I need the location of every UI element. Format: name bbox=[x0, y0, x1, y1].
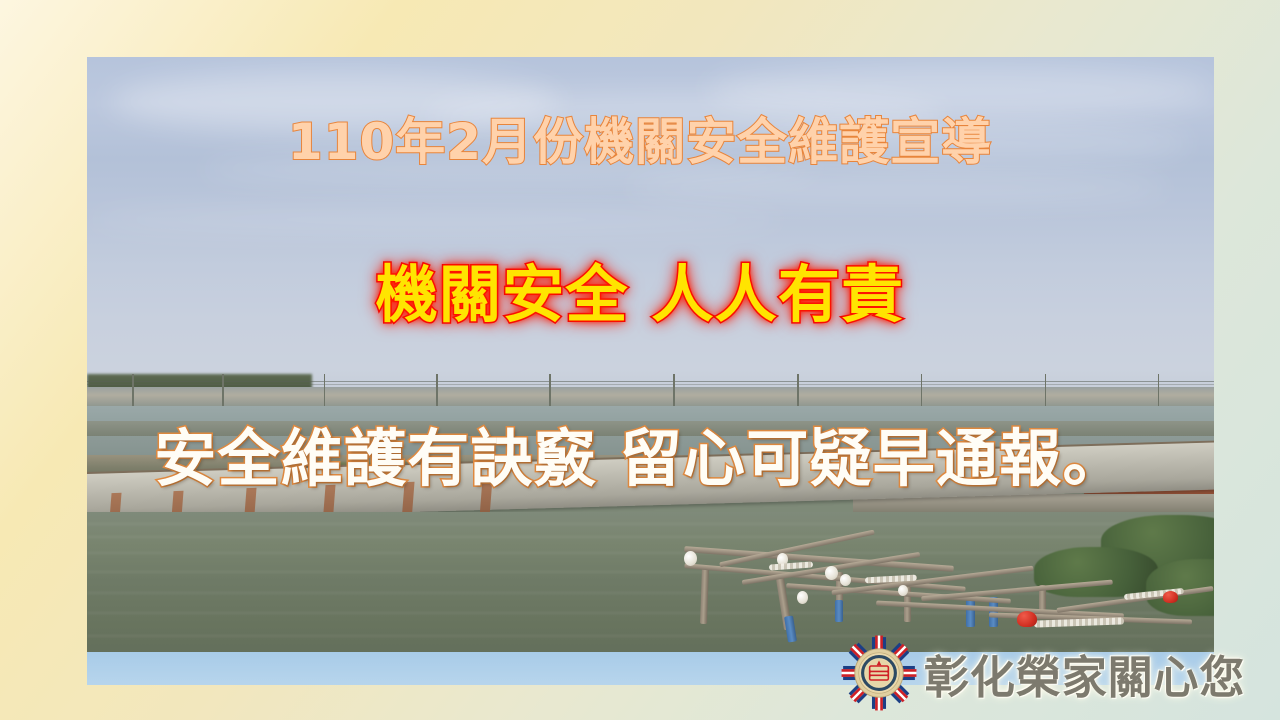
utility-pole bbox=[1158, 374, 1160, 405]
far-pond bbox=[87, 406, 1214, 422]
cloud bbox=[707, 64, 1214, 118]
rack-post-wrapped bbox=[966, 597, 975, 627]
veterans-affairs-emblem-icon bbox=[840, 634, 918, 712]
background-photo bbox=[87, 57, 1214, 685]
slide-canvas: 110年2月份機關安全維護宣導 機關安全 人人有責 安全維護有訣竅 留心可疑早通… bbox=[0, 0, 1280, 720]
utility-pole bbox=[797, 374, 799, 405]
utility-pole bbox=[436, 374, 438, 405]
utility-pole bbox=[132, 374, 134, 405]
footer-caption-text: 彰化榮家關心您 bbox=[924, 641, 1245, 706]
rope-knot bbox=[825, 566, 838, 580]
rope-knot bbox=[684, 551, 697, 566]
water-ripple bbox=[87, 536, 1214, 538]
utility-pole bbox=[324, 374, 326, 405]
cloud bbox=[763, 125, 1191, 162]
utility-pole bbox=[222, 374, 224, 405]
utility-pole bbox=[673, 374, 675, 405]
pond-divider-near bbox=[87, 421, 1214, 436]
red-float bbox=[1017, 611, 1037, 627]
rack-post-wrapped bbox=[835, 600, 843, 622]
utility-pole bbox=[1045, 374, 1047, 405]
utility-pole bbox=[921, 374, 923, 405]
red-float bbox=[1163, 591, 1178, 603]
cloud bbox=[87, 206, 786, 233]
rope-knot bbox=[898, 585, 908, 596]
water-ripple bbox=[87, 523, 1214, 525]
utility-pole bbox=[549, 374, 551, 405]
footer-branding: 彰化榮家關心您 bbox=[840, 634, 1245, 712]
water-ripple bbox=[87, 552, 1214, 554]
cloud bbox=[628, 172, 1169, 203]
photo-sky bbox=[87, 57, 1214, 396]
rope-knot bbox=[797, 591, 808, 604]
